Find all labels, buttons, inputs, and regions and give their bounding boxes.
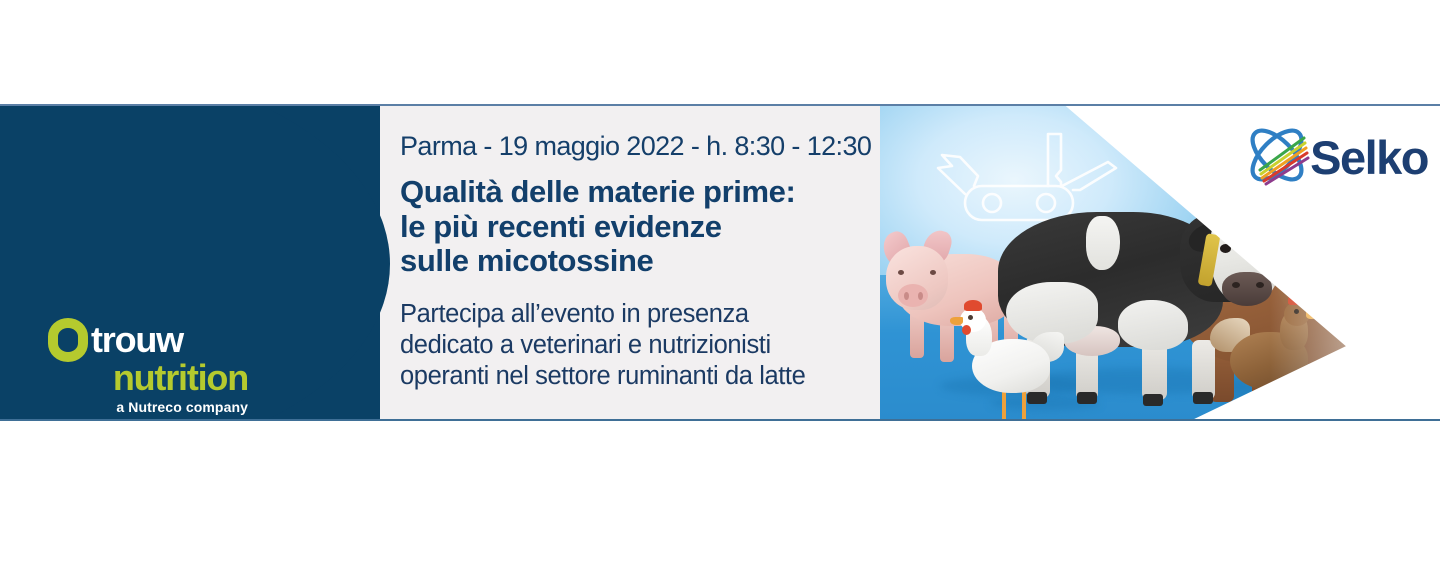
trouw-nutrition-logo: trouw nutrition a Nutreco company [48,319,248,415]
headline-line-2: le più recenti evidenze [400,210,900,245]
selko-logo: Selko [1240,118,1428,197]
logo-tagline: a Nutreco company [48,399,248,415]
ring-icon [48,318,88,362]
event-banner: trouw nutrition a Nutreco company Parma … [0,104,1440,421]
description-line-3: operanti nel settore ruminanti da latte [400,361,900,392]
atom-icon [1240,118,1314,197]
event-headline: Qualità delle materie prime: le più rece… [400,175,900,279]
banner-top-rule [0,104,1440,106]
banner-bottom-rule [0,419,1440,421]
logo-word-nutrition: nutrition [48,359,248,397]
event-description: Partecipa all’evento in presenza dedicat… [400,299,900,392]
description-line-1: Partecipa all’evento in presenza [400,299,900,330]
event-text-block: Parma - 19 maggio 2022 - h. 8:30 - 12:30… [400,130,900,392]
logo-primary-row: trouw [48,319,248,361]
event-date-line: Parma - 19 maggio 2022 - h. 8:30 - 12:30 [400,130,900,162]
headline-line-1: Qualità delle materie prime: [400,175,900,210]
logo-word-trouw: trouw [91,322,183,358]
selko-wordmark: Selko [1310,134,1428,181]
headline-line-3: sulle micotossine [400,244,900,279]
description-line-2: dedicato a veterinari e nutrizionisti [400,330,900,361]
